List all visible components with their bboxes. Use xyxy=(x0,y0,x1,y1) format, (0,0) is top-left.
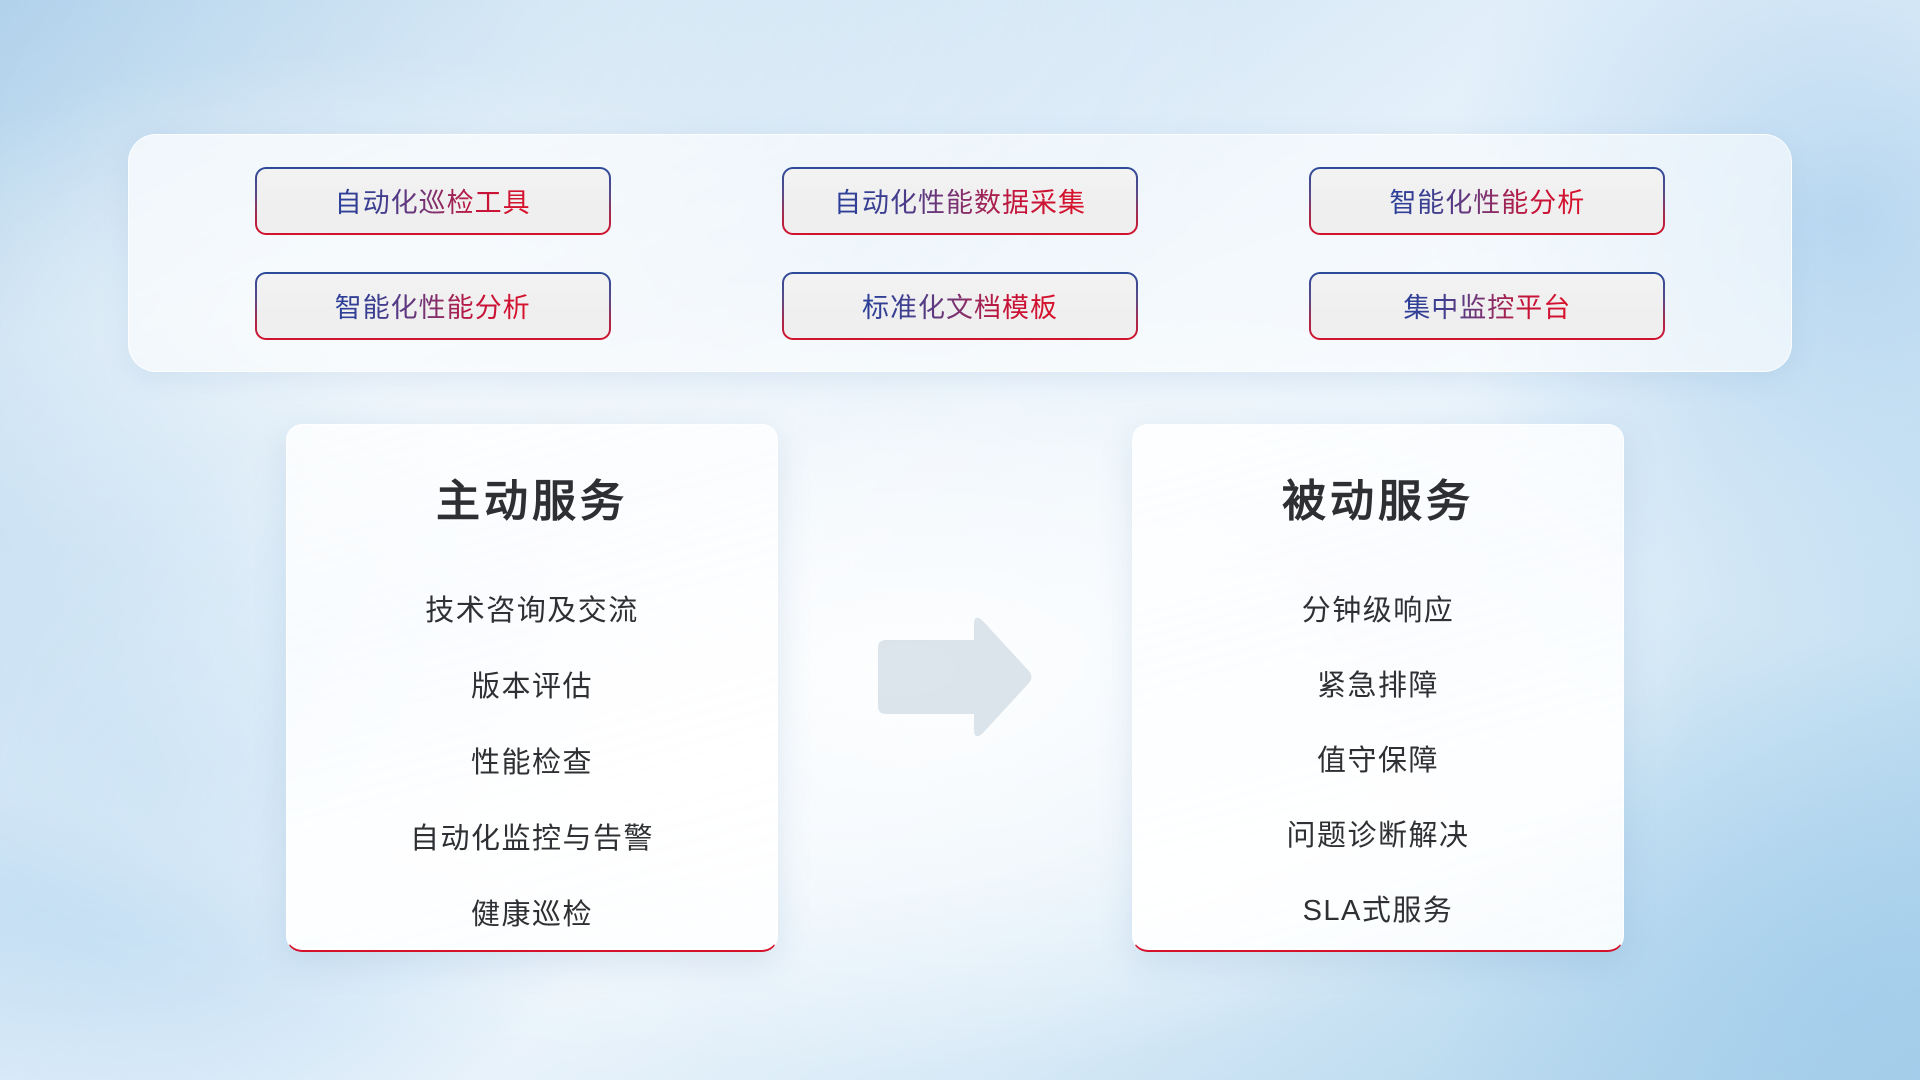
list-item: 问题诊断解决 xyxy=(1286,812,1469,854)
capability-chip-label: 标准化文档模板 xyxy=(862,286,1058,325)
list-item: 值守保障 xyxy=(1317,737,1439,779)
service-item-list: 分钟级响应 紧急排障 值守保障 问题诊断解决 SLA式服务 xyxy=(1167,587,1589,929)
capability-chip-label: 自动化巡检工具 xyxy=(335,181,531,220)
service-item-list: 技术咨询及交流 版本评估 性能检查 自动化监控与告警 健康巡检 xyxy=(321,587,743,933)
list-item: 性能检查 xyxy=(471,739,593,781)
list-item: 健康巡检 xyxy=(471,891,593,933)
capability-panel: 自动化巡检工具 自动化性能数据采集 智能化性能分析 智能化性能分析 标准化文档模… xyxy=(128,134,1792,372)
service-card-reactive: 被动服务 分钟级响应 紧急排障 值守保障 问题诊断解决 SLA式服务 xyxy=(1132,424,1624,952)
chip-inner-surface: 自动化性能数据采集 xyxy=(784,169,1136,233)
chip-inner-surface: 标准化文档模板 xyxy=(784,274,1136,338)
card-title: 主动服务 xyxy=(436,465,628,529)
capability-chip-6[interactable]: 集中监控平台 xyxy=(1309,272,1665,340)
capability-chip-1[interactable]: 自动化巡检工具 xyxy=(255,167,611,235)
capability-chip-2[interactable]: 自动化性能数据采集 xyxy=(782,167,1138,235)
capability-chip-label: 智能化性能分析 xyxy=(1389,181,1585,220)
capability-chip-label: 集中监控平台 xyxy=(1403,286,1571,325)
list-item: 自动化监控与告警 xyxy=(410,815,654,857)
list-item: 版本评估 xyxy=(471,663,593,705)
capability-chip-3[interactable]: 智能化性能分析 xyxy=(1309,167,1665,235)
service-card-proactive: 主动服务 技术咨询及交流 版本评估 性能检查 自动化监控与告警 健康巡检 xyxy=(286,424,778,952)
chip-inner-surface: 集中监控平台 xyxy=(1311,274,1663,338)
capability-chip-4[interactable]: 智能化性能分析 xyxy=(255,272,611,340)
list-item: 紧急排障 xyxy=(1317,662,1439,704)
capability-chip-5[interactable]: 标准化文档模板 xyxy=(782,272,1138,340)
chip-inner-surface: 智能化性能分析 xyxy=(257,274,609,338)
list-item: 分钟级响应 xyxy=(1302,587,1455,629)
chip-inner-surface: 智能化性能分析 xyxy=(1311,169,1663,233)
list-item: 技术咨询及交流 xyxy=(425,587,639,629)
capability-chip-label: 智能化性能分析 xyxy=(335,286,531,325)
chip-inner-surface: 自动化巡检工具 xyxy=(257,169,609,233)
list-item: SLA式服务 xyxy=(1303,887,1454,929)
capability-chip-label: 自动化性能数据采集 xyxy=(834,181,1086,220)
card-title: 被动服务 xyxy=(1282,465,1474,529)
arrow-right-icon xyxy=(872,612,1036,742)
